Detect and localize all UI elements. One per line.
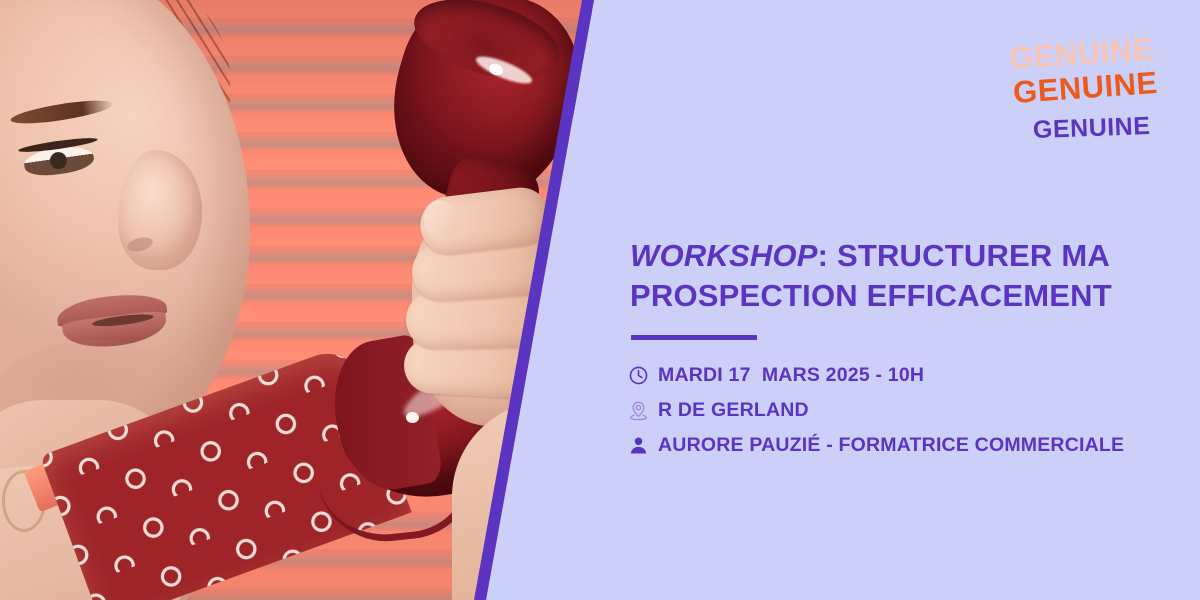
genuine-logo: GENUINE GENUINE GENUINE <box>908 28 1158 148</box>
title-divider-rule <box>631 335 757 340</box>
logo-word-orange: GENUINE <box>1012 67 1159 108</box>
detail-label-location: R DE GERLAND <box>658 399 809 422</box>
event-banner: GENUINE GENUINE GENUINE WORKSHOP: STRUCT… <box>0 0 1200 600</box>
event-title: WORKSHOP: STRUCTURER MA PROSPECTION EFFI… <box>630 236 1170 315</box>
hero-photo <box>0 0 600 600</box>
event-title-emphasis: WORKSHOP <box>630 238 818 273</box>
detail-label-date: MARDI 17 MARS 2025 - 10H <box>658 364 924 387</box>
info-panel: GENUINE GENUINE GENUINE WORKSHOP: STRUCT… <box>600 0 1200 600</box>
location-icon <box>628 400 649 421</box>
person-icon <box>628 435 649 456</box>
event-title-separator: : <box>818 238 837 273</box>
handset-mouthpiece-specular-dot <box>406 412 419 423</box>
detail-row-date: MARDI 17 MARS 2025 - 10H <box>628 364 1188 387</box>
event-details: MARDI 17 MARS 2025 - 10H R DE GERLAND <box>628 364 1188 469</box>
pupil <box>49 151 68 170</box>
detail-label-speaker: AURORE PAUZIÉ - FORMATRICE COMMERCIALE <box>658 434 1124 457</box>
logo-word-purple: GENUINE <box>1032 114 1150 143</box>
detail-row-speaker: AURORE PAUZIÉ - FORMATRICE COMMERCIALE <box>628 434 1188 457</box>
clock-icon <box>628 365 649 386</box>
detail-row-location: R DE GERLAND <box>628 399 1188 422</box>
